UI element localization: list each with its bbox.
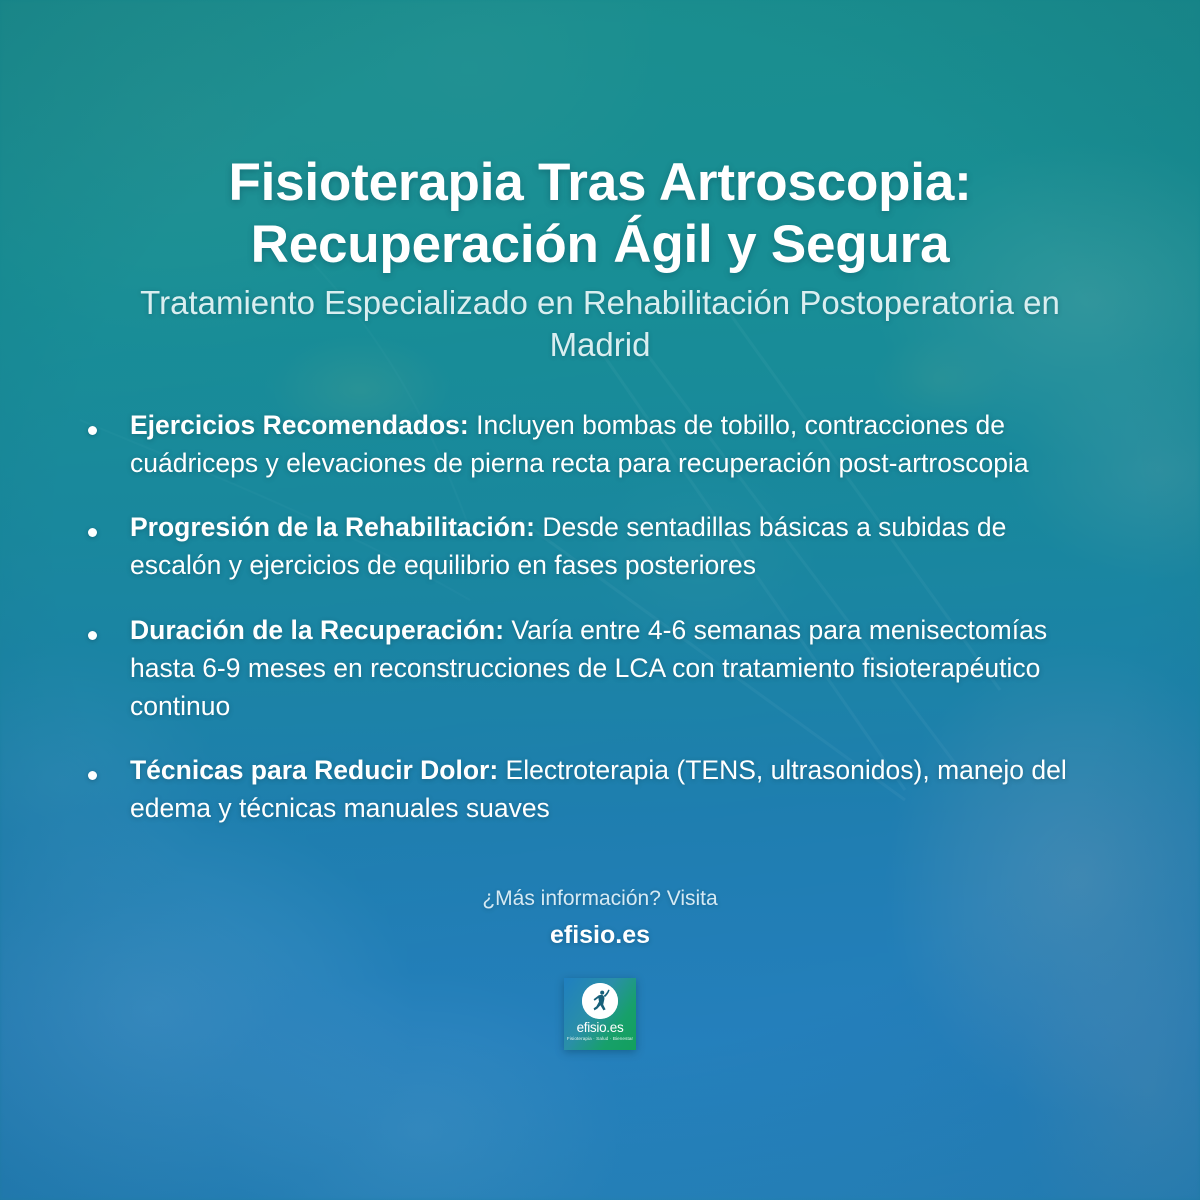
list-item: Duración de la Recuperación: Varía entre… [88,611,1082,725]
logo-wordmark: efisio.es [577,1021,624,1035]
list-item: Progresión de la Rehabilitación: Desde s… [88,508,1082,584]
cta-prompt: ¿Más información? Visita [0,885,1200,913]
logo-tagline: Fisioterapia · Salud · Bienestar [567,1037,633,1042]
list-item-lead: Duración de la Recuperación: [130,615,504,645]
bullet-dot-icon [88,508,130,541]
call-to-action: ¿Más información? Visita efisio.es [0,885,1200,950]
list-item-lead: Técnicas para Reducir Dolor: [130,755,498,785]
brand-logo[interactable]: efisio.es Fisioterapia · Salud · Bienest… [564,978,636,1050]
list-item-lead: Ejercicios Recomendados: [130,410,469,440]
page-title: Fisioterapia Tras Artroscopia: Recuperac… [90,152,1110,276]
list-item-lead: Progresión de la Rehabilitación: [130,512,535,542]
list-item-text: Ejercicios Recomendados: Incluyen bombas… [130,406,1082,482]
poster-header: Fisioterapia Tras Artroscopia: Recuperac… [0,152,1200,365]
cta-domain[interactable]: efisio.es [0,920,1200,950]
bullet-dot-icon [88,751,130,784]
key-points-list: Ejercicios Recomendados: Incluyen bombas… [88,406,1082,853]
brand-logo-container: efisio.es Fisioterapia · Salud · Bienest… [0,978,1200,1050]
list-item-text: Progresión de la Rehabilitación: Desde s… [130,508,1082,584]
list-item: Ejercicios Recomendados: Incluyen bombas… [88,406,1082,482]
poster-content: Fisioterapia Tras Artroscopia: Recuperac… [0,0,1200,1200]
stretching-figure-icon [582,983,618,1019]
list-item: Técnicas para Reducir Dolor: Electrotera… [88,751,1082,827]
bullet-dot-icon [88,406,130,439]
infographic-poster: Fisioterapia Tras Artroscopia: Recuperac… [0,0,1200,1200]
page-subtitle: Tratamiento Especializado en Rehabilitac… [90,282,1110,365]
list-item-text: Técnicas para Reducir Dolor: Electrotera… [130,751,1082,827]
bullet-dot-icon [88,611,130,644]
list-item-text: Duración de la Recuperación: Varía entre… [130,611,1082,725]
